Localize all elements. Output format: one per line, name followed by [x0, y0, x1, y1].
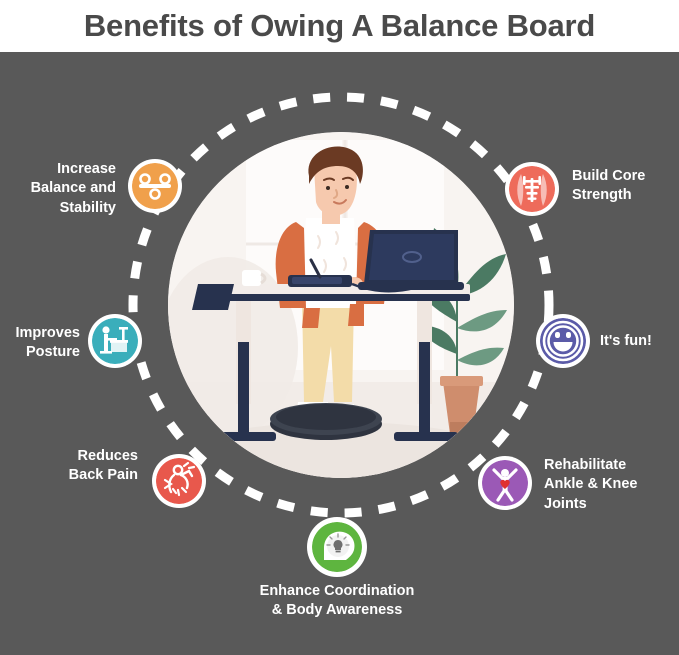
benefit-label-increase-balance-and-stability: Increase Balance and Stability [0, 160, 116, 218]
infographic-page: Benefits of Owing A Balance Board [0, 0, 679, 655]
person-heart-icon[interactable] [478, 456, 532, 510]
core-abs-icon[interactable] [505, 162, 559, 216]
benefit-label-build-core-strength: Build Core Strength [572, 167, 679, 206]
benefit-label-improves-posture: Improves Posture [0, 324, 80, 363]
hero-illustration [168, 132, 514, 478]
back-pain-icon[interactable] [152, 454, 206, 508]
balance-board [270, 403, 382, 440]
benefit-label-rehabilitate-ankle-knee-joints: Rehabilitate Ankle & Knee Joints [544, 456, 679, 514]
title-band: Benefits of Owing A Balance Board [0, 0, 679, 52]
brain-lightbulb-icon[interactable] [307, 517, 367, 577]
benefit-label-enhance-coordination: Enhance Coordination & Body Awareness [187, 582, 487, 621]
standing-desk-posture-icon[interactable] [88, 314, 142, 368]
infographic-canvas: Increase Balance and Stability Improves … [0, 52, 679, 655]
smiley-face-icon[interactable] [536, 314, 590, 368]
page-title: Benefits of Owing A Balance Board [84, 8, 595, 44]
benefit-label-reduces-back-pain: Reduces Back Pain [6, 447, 138, 486]
balance-board-icon[interactable] [128, 159, 182, 213]
benefit-label-its-fun: It's fun! [600, 332, 679, 351]
